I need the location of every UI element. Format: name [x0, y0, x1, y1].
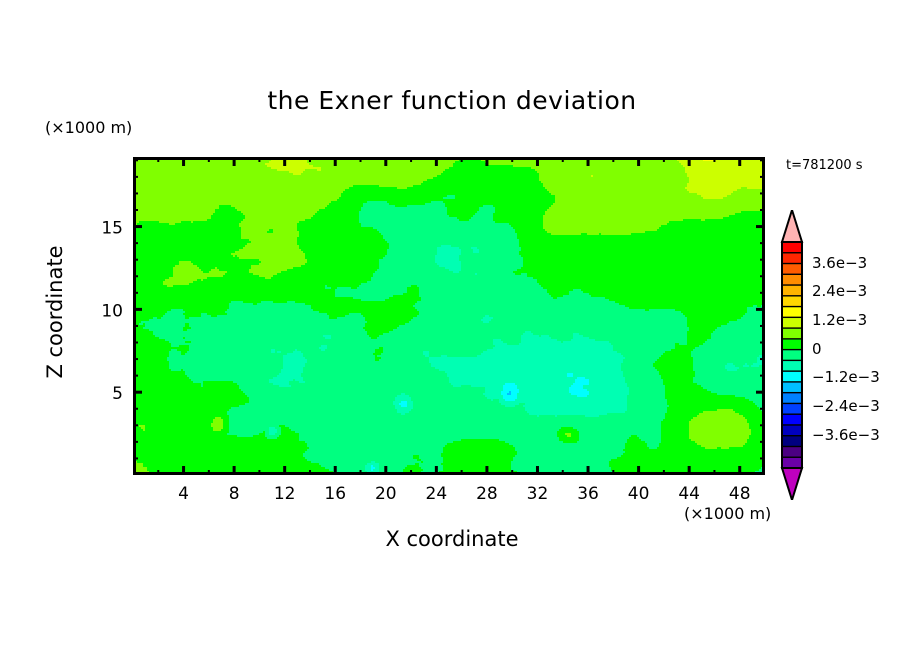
axis-ticks-and-labels: 481216202428323640444851015: [0, 0, 904, 654]
y-tick-label: 15: [101, 219, 123, 239]
x-tick-label: 20: [375, 484, 397, 504]
y-tick-label: 5: [112, 384, 123, 404]
x-tick-label: 32: [527, 484, 549, 504]
x-tick-label: 8: [229, 484, 240, 504]
x-tick-label: 40: [628, 484, 650, 504]
x-tick-label: 44: [678, 484, 700, 504]
x-tick-label: 4: [178, 484, 189, 504]
x-tick-label: 28: [476, 484, 498, 504]
x-tick-label: 12: [274, 484, 296, 504]
x-tick-label: 16: [324, 484, 346, 504]
y-tick-label: 10: [101, 301, 123, 321]
x-tick-label: 24: [426, 484, 448, 504]
x-tick-label: 48: [729, 484, 751, 504]
x-tick-label: 36: [577, 484, 599, 504]
